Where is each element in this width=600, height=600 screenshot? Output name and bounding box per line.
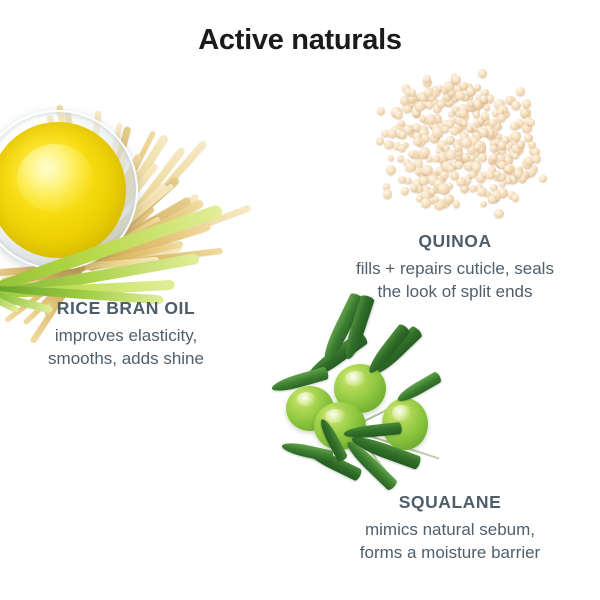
- quinoa-grain: [489, 119, 496, 126]
- quinoa-grain: [415, 102, 425, 111]
- ingredient-description-rice-bran-oil: improves elasticity, smooths, adds shine: [0, 325, 252, 371]
- quinoa-grain: [481, 112, 489, 120]
- quinoa-grain: [504, 165, 512, 172]
- quinoa-grain: [488, 195, 497, 203]
- quinoa-grain: [478, 69, 487, 78]
- ingredient-name-squalane: SQUALANE: [300, 492, 600, 513]
- quinoa-grain: [420, 147, 429, 157]
- quinoa-grain: [426, 101, 433, 108]
- ingredient-description-squalane: mimics natural sebum, forms a moisture b…: [300, 519, 600, 565]
- quinoa-grain: [408, 151, 415, 157]
- quinoa-grain: [388, 129, 397, 138]
- quinoa-grain: [424, 88, 433, 96]
- quinoa-grain: [426, 114, 436, 124]
- ingredient-squalane: SQUALANE mimics natural sebum, forms a m…: [300, 492, 600, 565]
- quinoa-grain: [459, 109, 466, 116]
- active-naturals-infographic: Active naturals RICE BRAN OIL improves e…: [0, 0, 600, 600]
- quinoa-grain: [469, 171, 476, 178]
- ingredient-name-quinoa: QUINOA: [310, 231, 600, 252]
- quinoa-grain: [437, 100, 445, 108]
- quinoa-grain: [480, 95, 488, 103]
- quinoa-grain: [511, 101, 521, 110]
- quinoa-grain: [532, 155, 541, 162]
- quinoa-grain: [517, 141, 525, 148]
- quinoa-grain: [480, 201, 487, 207]
- quinoa-grain: [469, 154, 476, 160]
- quinoa-grain: [484, 104, 491, 111]
- ingredient-quinoa: QUINOA fills + repairs cuticle, seals th…: [310, 231, 600, 304]
- quinoa-grain: [497, 114, 505, 122]
- quinoa-grain: [490, 154, 497, 161]
- quinoa-grain: [410, 184, 418, 192]
- quinoa-grain: [453, 200, 460, 207]
- quinoa-grain: [419, 176, 429, 185]
- ingredient-description-quinoa: fills + repairs cuticle, seals the look …: [310, 258, 600, 304]
- ingredient-name-rice-bran-oil: RICE BRAN OIL: [0, 298, 252, 319]
- quinoa-grain: [377, 107, 385, 115]
- quinoa-grain: [512, 194, 519, 201]
- quinoa-grain: [429, 188, 436, 195]
- quinoa-grain: [384, 140, 394, 149]
- quinoa-grain: [494, 209, 503, 218]
- quinoa-grain: [450, 127, 459, 135]
- quinoa-grain: [528, 119, 535, 126]
- quinoa-grain: [510, 122, 518, 130]
- quinoa-grain: [400, 96, 409, 105]
- quinoa-grain: [399, 131, 407, 138]
- quinoa-grain: [469, 185, 477, 193]
- quinoa-grain: [454, 144, 461, 151]
- ingredient-rice-bran-oil: RICE BRAN OIL improves elasticity, smoot…: [0, 298, 252, 371]
- quinoa-grain: [388, 155, 395, 162]
- quinoa-grain: [522, 99, 531, 108]
- quinoa-grain: [442, 126, 449, 133]
- quinoa-grain: [461, 120, 468, 126]
- quinoa-grain: [386, 165, 396, 175]
- quinoa-grain: [455, 161, 463, 169]
- quinoa-grain: [455, 91, 464, 100]
- quinoa-grain: [398, 144, 405, 152]
- quinoa-grain: [512, 153, 519, 159]
- quinoa-grain: [461, 137, 471, 148]
- page-title: Active naturals: [0, 24, 600, 57]
- olive-branch-image: [252, 336, 442, 491]
- quinoa-grain: [421, 198, 430, 207]
- quinoa-grain: [498, 141, 507, 149]
- quinoa-grain: [413, 124, 421, 131]
- quinoa-grain: [516, 87, 525, 96]
- quinoa-grain: [398, 120, 405, 126]
- quinoa-grain: [433, 196, 440, 202]
- quinoa-grain: [520, 108, 529, 116]
- quinoa-grain: [432, 127, 442, 137]
- quinoa-grain: [432, 155, 440, 162]
- quinoa-grain: [511, 131, 521, 141]
- quinoa-grain: [383, 189, 392, 198]
- quinoa-image: [372, 72, 550, 224]
- quinoa-grain: [462, 153, 470, 162]
- quinoa-grain: [466, 87, 475, 96]
- quinoa-grain: [478, 153, 487, 161]
- quinoa-grain: [413, 138, 422, 145]
- quinoa-grain: [401, 187, 409, 195]
- quinoa-grain: [440, 171, 449, 179]
- quinoa-grain: [446, 136, 454, 144]
- quinoa-grain: [395, 111, 403, 119]
- quinoa-grain: [422, 165, 432, 175]
- quinoa-grain: [539, 175, 546, 182]
- quinoa-grain: [405, 162, 416, 171]
- quinoa-grain: [438, 183, 449, 194]
- quinoa-grain: [505, 177, 512, 184]
- quinoa-grain: [376, 137, 384, 145]
- olive-leaf: [395, 371, 443, 405]
